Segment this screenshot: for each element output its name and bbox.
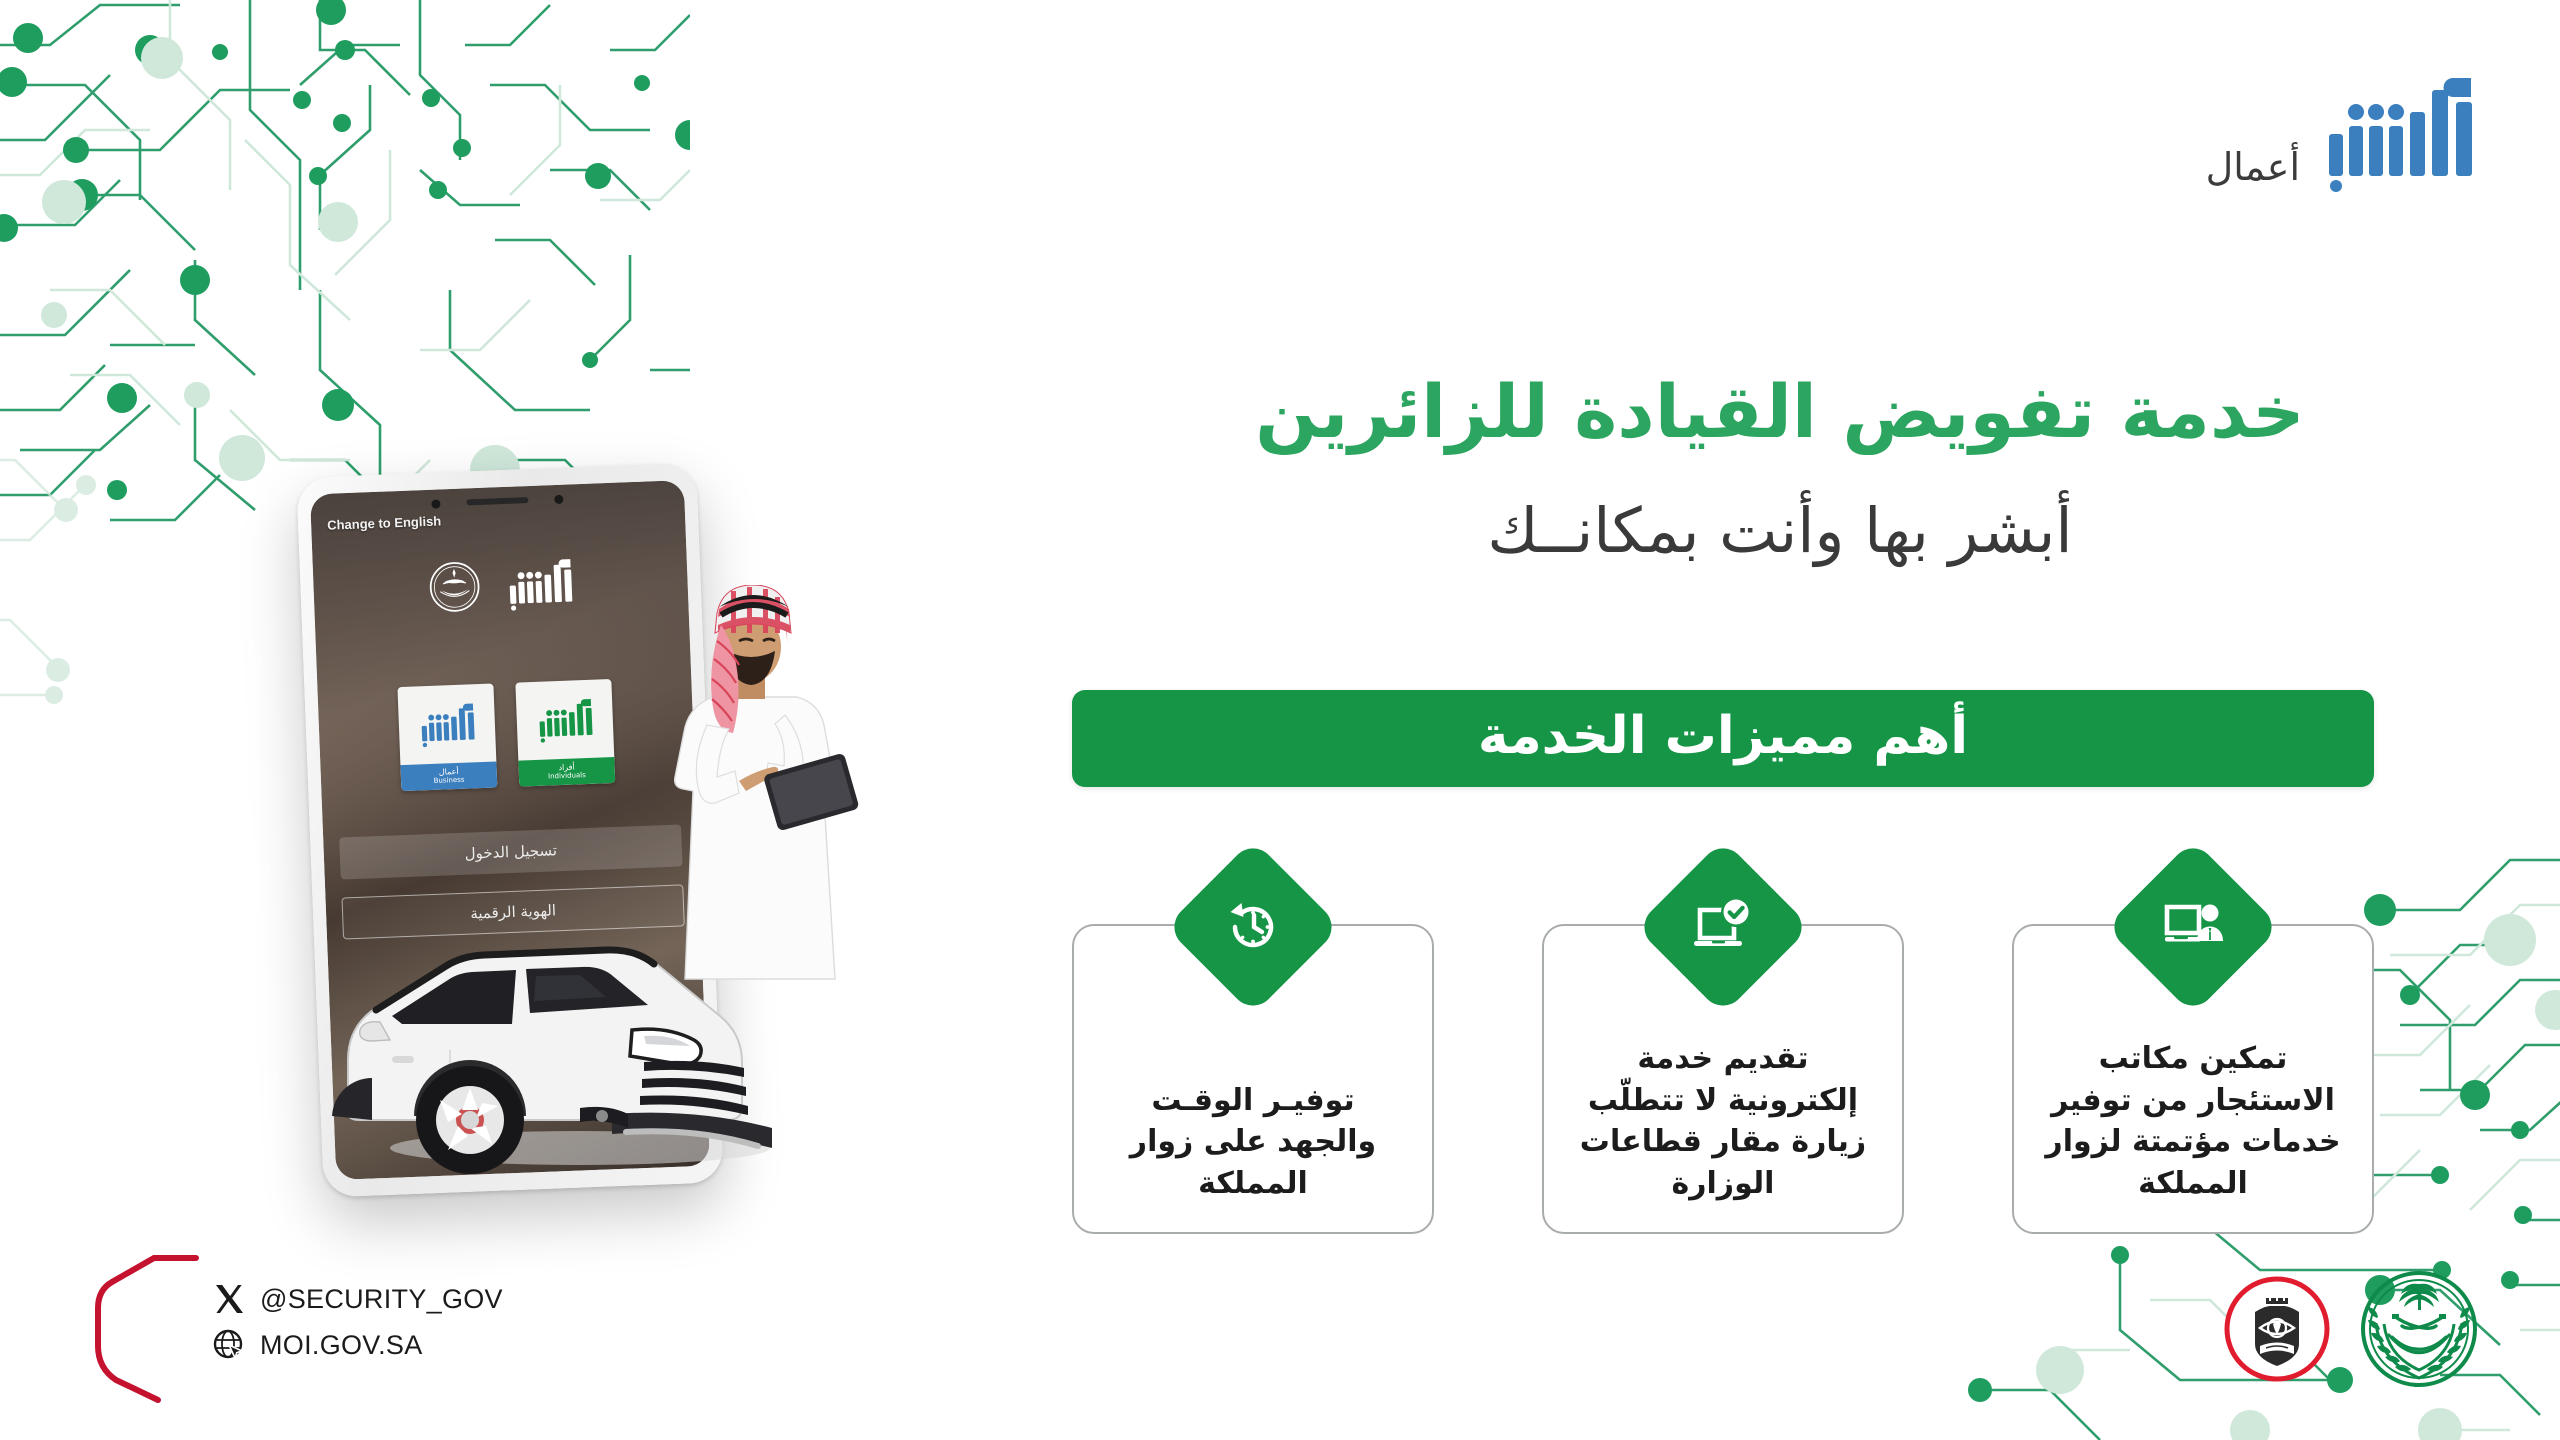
tile-individuals[interactable]: أفراد Individuals: [515, 679, 615, 787]
website-url: MOI.GOV.SA: [260, 1330, 423, 1361]
feature-card-text: تقديم خدمة إلكترونية لا تتطلّب زيارة مقا…: [1570, 1038, 1876, 1204]
features-banner-label: أهم مميزات الخدمة: [1478, 710, 1968, 768]
public-security-emblem: [2222, 1274, 2332, 1384]
earpiece-speaker: [466, 497, 528, 505]
phone-notch-bar: [310, 486, 684, 516]
feature-icon-badge: [2105, 839, 2280, 1014]
footer-emblems: [2222, 1268, 2480, 1390]
tile-business[interactable]: أعمال Business: [397, 684, 497, 792]
twitter-handle: @SECURITY_GOV: [260, 1284, 503, 1315]
absher-logo-white-icon: [506, 556, 574, 610]
tile-label-en: Business: [433, 776, 464, 785]
website-row[interactable]: MOI.GOV.SA: [212, 1328, 503, 1362]
clock-refresh-icon: [1221, 895, 1285, 959]
login-button[interactable]: تسجيل الدخول: [339, 824, 682, 879]
phone-app-logos: [313, 552, 689, 618]
circuit-decoration-mid-left: [0, 430, 200, 730]
shield-outline-icon: [92, 1252, 220, 1404]
laptop-check-icon: [1691, 895, 1755, 959]
tile-label-en: Individuals: [548, 772, 586, 781]
feature-card-text: تمكين مكاتب الاستئجار من توفير خدمات مؤت…: [2040, 1038, 2346, 1204]
white-suv-photo: [330, 880, 800, 1180]
tile-business-label: أعمال Business: [400, 761, 497, 791]
poster-canvas: أعمال خدمة تفويض القيادة للزائرين أبشر ب…: [0, 0, 2560, 1440]
feature-card-time-saving: توفيـر الوقـت والجهد على زوار المملكة: [1072, 924, 1434, 1234]
feature-card-text: توفيـر الوقـت والجهد على زوار المملكة: [1100, 1080, 1406, 1204]
change-language-link[interactable]: Change to English: [327, 513, 442, 532]
feature-card-electronic-service: تقديم خدمة إلكترونية لا تتطلّب زيارة مقا…: [1542, 924, 1904, 1234]
tile-business-icon: [397, 684, 496, 766]
front-camera-icon: [554, 494, 563, 503]
tile-individuals-icon: [515, 679, 614, 761]
feature-icon-badge: [1635, 839, 1810, 1014]
contact-links: @SECURITY_GOV MOI.GOV.SA: [212, 1282, 503, 1362]
brand-wordmark: أعمال: [2206, 148, 2300, 192]
page-subtitle: أبشر بها وأنت بمكانــك: [1120, 495, 2440, 566]
moi-emblem-white-icon: [428, 560, 482, 614]
features-banner: أهم مميزات الخدمة: [1072, 690, 2374, 787]
contact-block: @SECURITY_GOV MOI.GOV.SA: [92, 1252, 512, 1402]
absher-logo-icon: [2322, 72, 2474, 192]
sensor-dot-icon: [431, 499, 440, 508]
ministry-of-interior-emblem: [2358, 1268, 2480, 1390]
page-title: خدمة تفويض القيادة للزائرين: [1120, 374, 2440, 453]
monitor-user-icon: [2161, 895, 2225, 959]
tile-individuals-label: أفراد Individuals: [518, 757, 615, 787]
feature-icon-badge: [1165, 839, 1340, 1014]
x-twitter-icon: [212, 1282, 246, 1316]
twitter-row[interactable]: @SECURITY_GOV: [212, 1282, 503, 1316]
absher-business-logo: أعمال: [2206, 72, 2474, 192]
feature-cards-row: تمكين مكاتب الاستئجار من توفير خدمات مؤت…: [1072, 862, 2374, 1234]
globe-cursor-icon: [212, 1328, 246, 1362]
feature-card-rental-offices: تمكين مكاتب الاستئجار من توفير خدمات مؤت…: [2012, 924, 2374, 1234]
